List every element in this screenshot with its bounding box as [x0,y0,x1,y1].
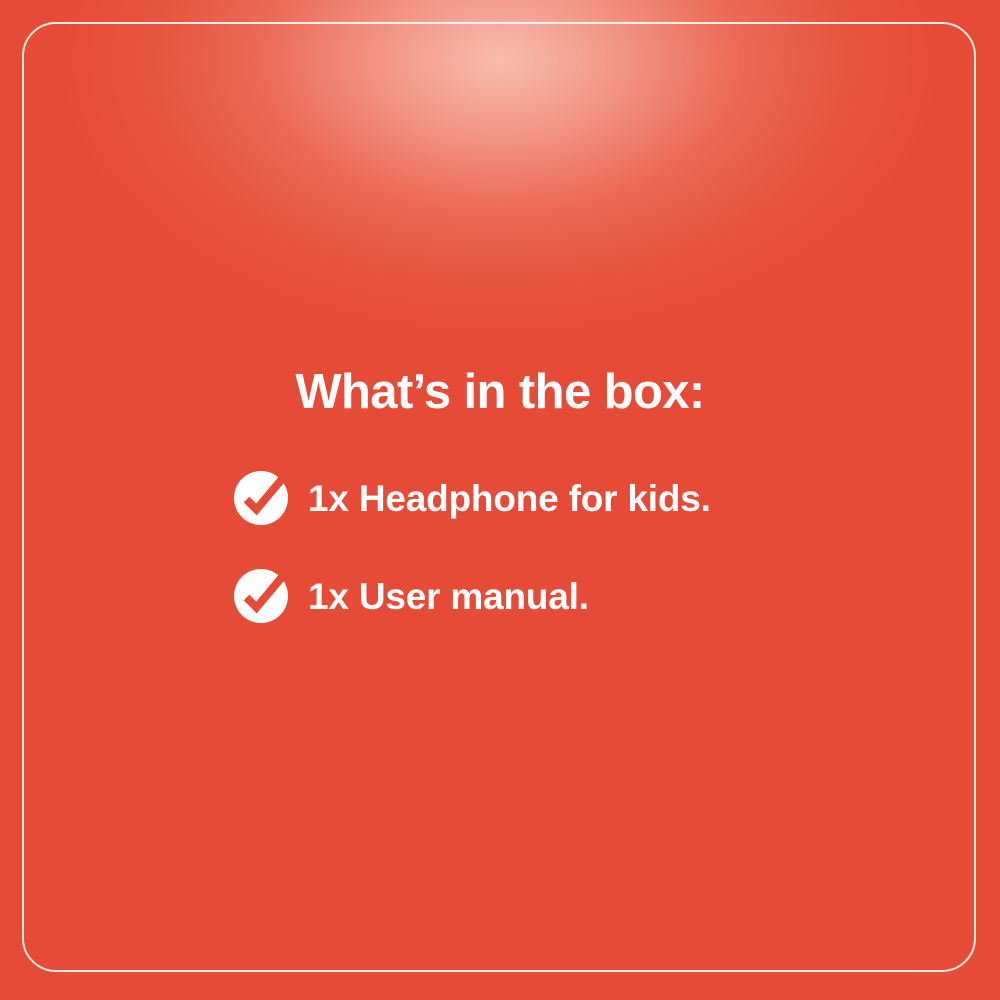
list-item-label: 1x User manual. [308,578,589,615]
promo-card: What’s in the box: 1x Headphone for kids… [0,0,1000,1000]
page-title: What’s in the box: [0,368,1000,417]
card-content: What’s in the box: 1x Headphone for kids… [0,0,1000,1000]
list-item: 1x Headphone for kids. [233,468,933,528]
box-contents-list: 1x Headphone for kids. 1x User manual. [233,468,933,664]
list-item: 1x User manual. [233,566,933,626]
check-circle-icon [233,470,289,526]
check-circle-icon [233,568,289,624]
list-item-label: 1x Headphone for kids. [308,480,711,517]
